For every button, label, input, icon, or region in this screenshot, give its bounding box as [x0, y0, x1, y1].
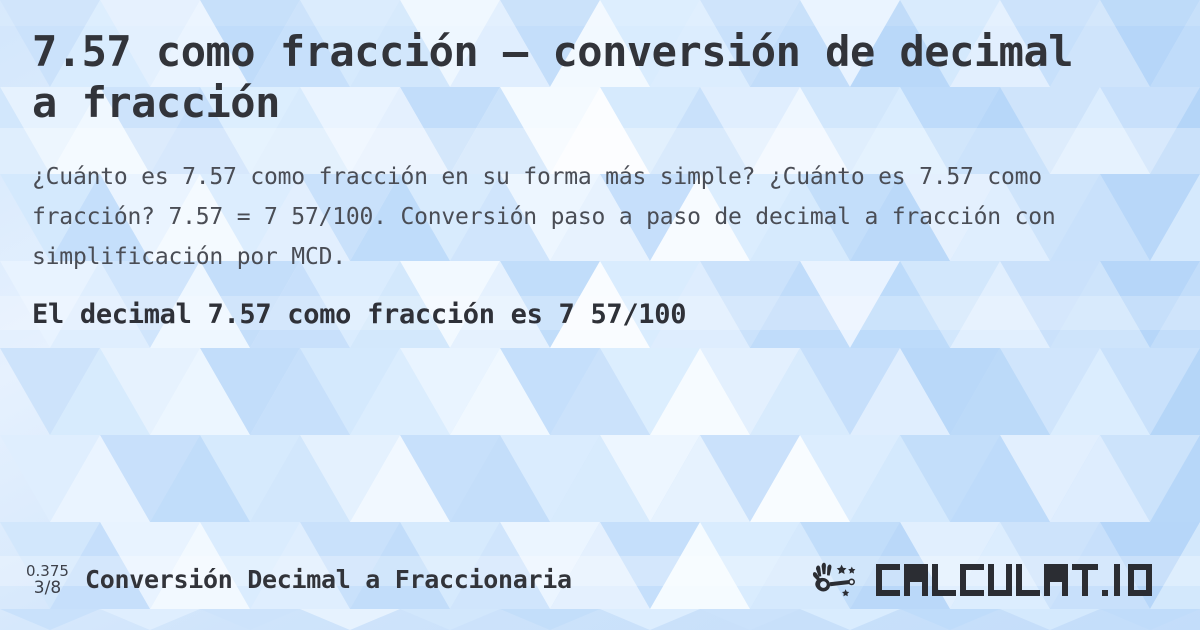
logo-decimal-value: 0.375	[26, 563, 69, 579]
calculatio-wordmark	[874, 560, 1174, 600]
card-content: 7.57 como fracción – conversión de decim…	[0, 0, 1200, 630]
page-description: ¿Cuánto es 7.57 como fracción en su form…	[32, 158, 1142, 277]
page-title: 7.57 como fracción – conversión de decim…	[32, 26, 1092, 128]
brand-logo[interactable]	[812, 560, 1174, 600]
footer-section-title: Conversión Decimal a Fraccionaria	[85, 565, 572, 594]
social-card: 7.57 como fracción – conversión de decim…	[0, 0, 1200, 630]
decimal-fraction-logo-icon: 0.375 3/8	[26, 563, 69, 598]
footer-left-group: 0.375 3/8 Conversión Decimal a Fracciona…	[26, 563, 572, 598]
card-footer: 0.375 3/8 Conversión Decimal a Fracciona…	[0, 552, 1200, 608]
hand-holding-wand-icon	[812, 560, 866, 600]
answer-statement: El decimal 7.57 como fracción es 7 57/10…	[32, 299, 1168, 330]
logo-fraction-value: 3/8	[34, 579, 61, 597]
